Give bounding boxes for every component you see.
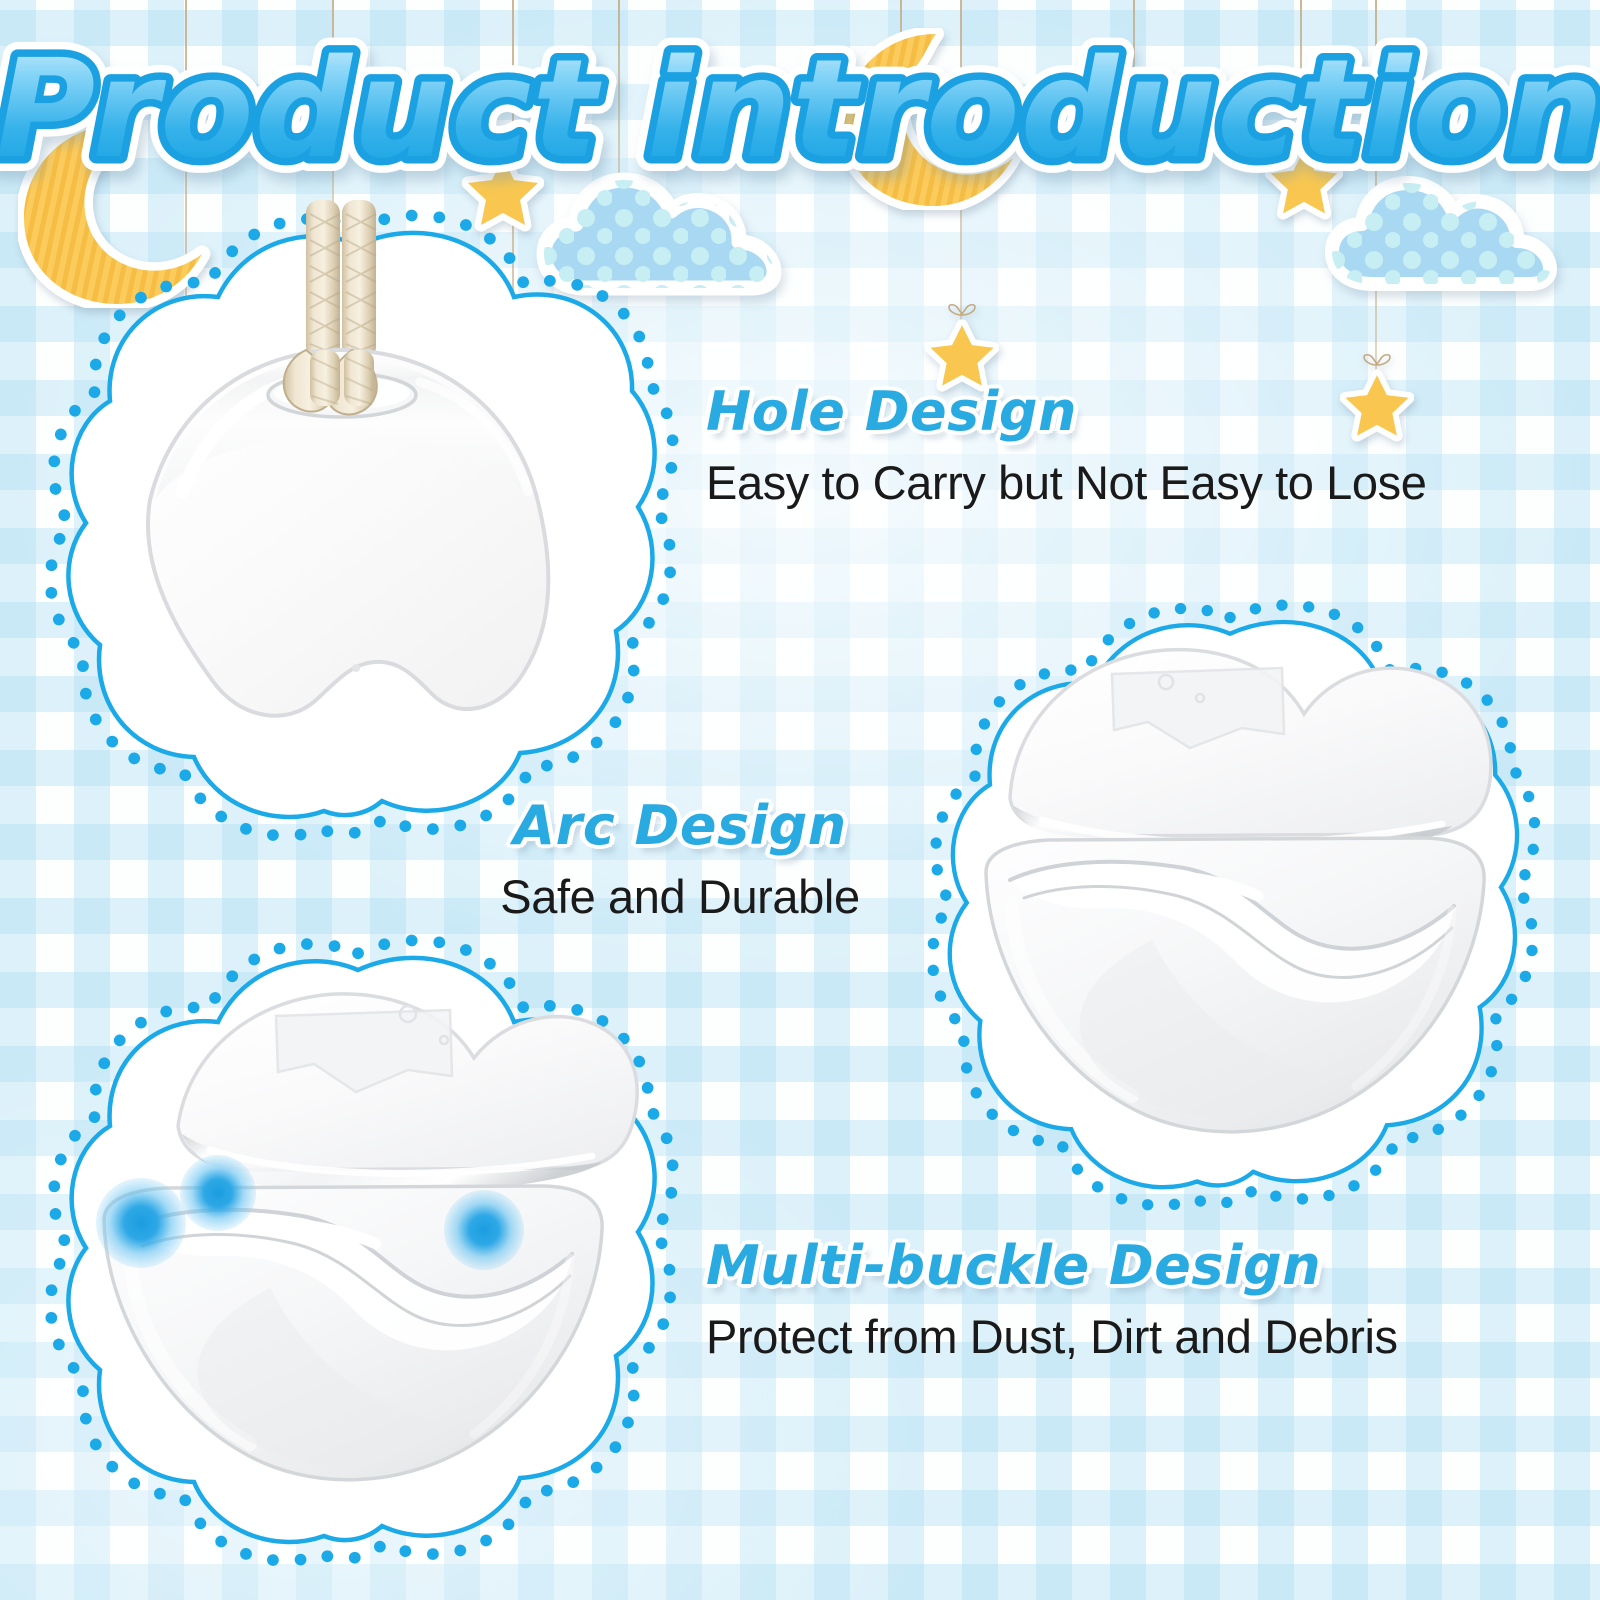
feature-heading: Hole Design — [706, 384, 1506, 441]
feature-hole-design: Hole Design Easy to Carry but Not Easy t… — [706, 384, 1506, 508]
bow-icon — [643, 155, 677, 175]
feature-subtitle: Safe and Durable — [430, 871, 930, 923]
buckle-highlight — [96, 1178, 186, 1268]
feature-arc-design: Arc Design Safe and Durable — [430, 798, 930, 922]
pacifier-case-open-arc — [952, 610, 1512, 1170]
hanging-thread — [1133, 0, 1135, 152]
feature-heading: Arc Design — [430, 798, 930, 855]
bow-icon — [1360, 352, 1394, 372]
feature-subtitle: Protect from Dust, Dirt and Debris — [706, 1311, 1526, 1363]
buckle-highlight — [444, 1190, 524, 1270]
product-introduction-infographic: Product introduction Product introductio… — [0, 0, 1600, 1600]
feature-subtitle: Easy to Carry but Not Easy to Lose — [706, 457, 1506, 509]
feature-heading: Multi-buckle Design — [706, 1238, 1526, 1295]
bow-icon — [945, 302, 979, 322]
pacifier-case-with-rope — [120, 200, 610, 800]
buckle-highlight — [180, 1155, 256, 1231]
feature-multi-buckle-design: Multi-buckle Design Protect from Dust, D… — [706, 1238, 1526, 1362]
cloud-icon — [1324, 172, 1562, 294]
moon-icon — [838, 28, 1028, 210]
star-icon — [1265, 142, 1343, 220]
